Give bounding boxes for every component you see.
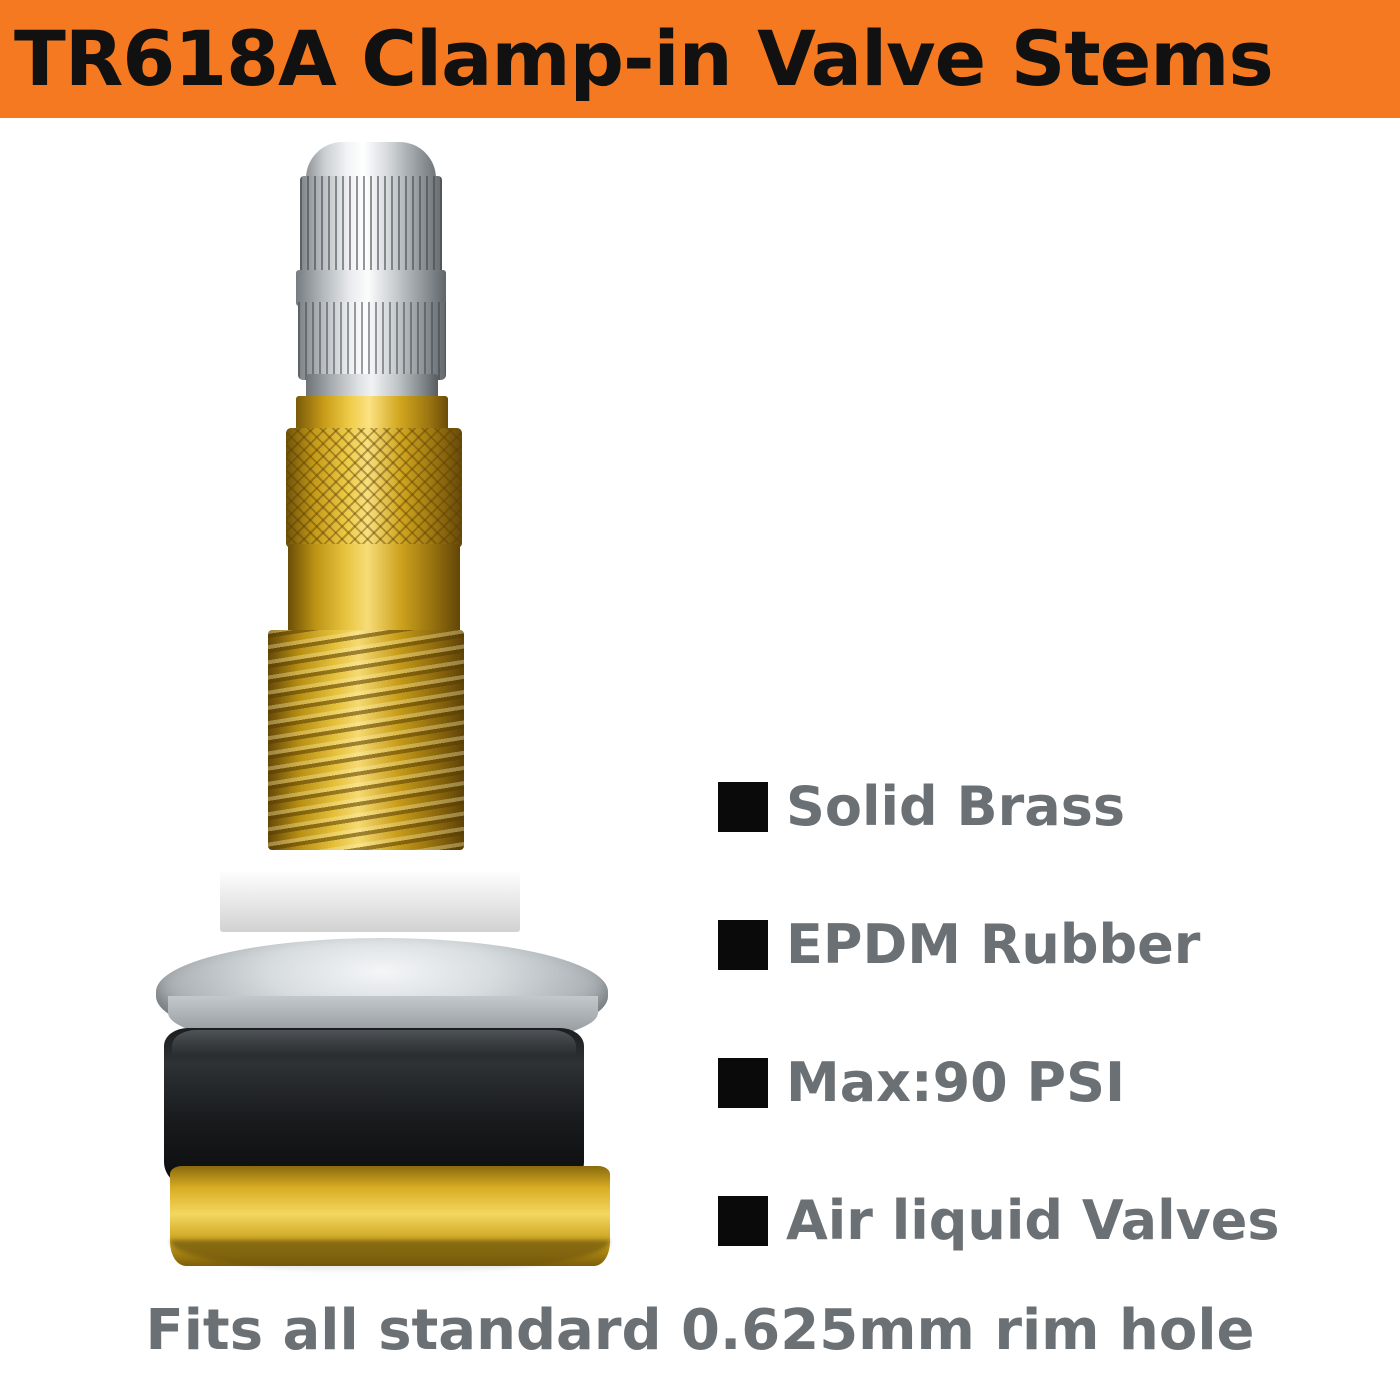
feature-label: Air liquid Valves <box>786 1194 1280 1248</box>
brass-knurled-nut <box>286 428 462 548</box>
bullet-square-icon <box>718 1058 768 1108</box>
footer-note: Fits all standard 0.625mm rim hole <box>0 1298 1400 1363</box>
feature-item-solid-brass: Solid Brass <box>718 738 1388 876</box>
threaded-brass-shank <box>268 630 464 850</box>
valve-cap-knurl-upper <box>300 176 442 276</box>
product-image-valve-stem <box>60 130 660 1290</box>
rubber-grommet-highlight <box>172 1030 576 1056</box>
feature-list: Solid Brass EPDM Rubber Max:90 PSI Air l… <box>718 738 1388 1290</box>
feature-label: EPDM Rubber <box>786 918 1200 972</box>
bullet-square-icon <box>718 782 768 832</box>
feature-item-max-psi: Max:90 PSI <box>718 1014 1388 1152</box>
page-title: TR618A Clamp-in Valve Stems <box>0 21 1273 97</box>
feature-label: Max:90 PSI <box>786 1056 1125 1110</box>
brass-collar <box>296 396 448 432</box>
feature-item-epdm-rubber: EPDM Rubber <box>718 876 1388 1014</box>
brass-shoulder <box>288 544 460 638</box>
bullet-square-icon <box>718 1196 768 1246</box>
feature-label: Solid Brass <box>786 780 1125 834</box>
brass-hex-nut-face <box>220 870 520 932</box>
brass-base-shadow <box>170 1240 610 1274</box>
feature-item-air-liquid-valves: Air liquid Valves <box>718 1152 1388 1290</box>
bullet-square-icon <box>718 920 768 970</box>
header-banner: TR618A Clamp-in Valve Stems <box>0 0 1400 118</box>
valve-cap-knurl-lower <box>298 302 446 380</box>
valve-cap-band <box>296 270 446 306</box>
